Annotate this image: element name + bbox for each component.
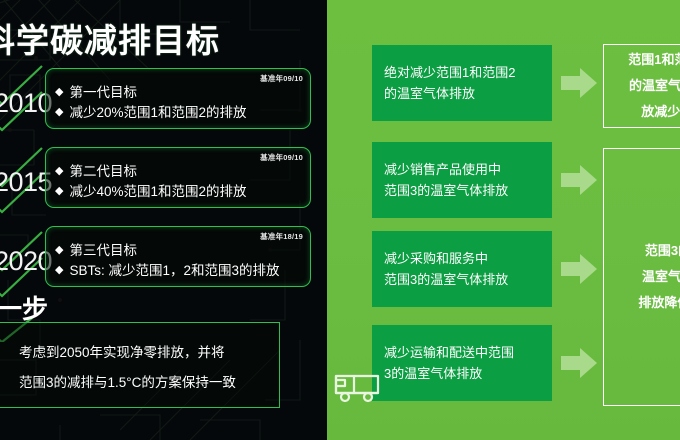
list-item: ◆ 减少40%范围1和范围2的排放: [55, 184, 304, 200]
diamond-bullet-icon: ◆: [55, 105, 63, 120]
truck-icon: [332, 366, 382, 406]
bullet-text: SBTs: 减少范围1，2和范围3的排放: [69, 263, 279, 279]
next-step-line-2: 范围3的减排与1.5°C的方案保持一致: [19, 371, 236, 391]
slide-canvas: 科学碳减排目标 2010 2015 2020 基准年09/10 ◆ 第一: [0, 0, 680, 440]
list-item: ◆ SBTs: 减少范围1，2和范围3的排放: [55, 263, 304, 279]
action-line: 减少采购和服务中: [384, 248, 508, 269]
outcome-box-1-text: 范围1和范围2 的温室气体排 放减少50: [628, 47, 680, 125]
timeline-card-2010[interactable]: 基准年09/10 ◆ 第一代目标 ◆ 减少20%范围1和范围2的排放: [45, 68, 311, 129]
timeline-card-bullets: ◆ 第一代目标 ◆ 减少20%范围1和范围2的排放: [55, 85, 304, 125]
outcome-box-2-text: 范围3的 温室气体 排放降低2: [638, 238, 680, 316]
action-line: 范围3的温室气体排放: [384, 180, 508, 201]
next-step-card[interactable]: 考虑到2050年实现净零排放，并将 范围3的减排与1.5°C的方案保持一致: [0, 322, 280, 408]
baseline-badge: 基准年09/10: [260, 152, 303, 163]
arrow-right-icon-3: [561, 253, 597, 285]
baseline-badge: 基准年18/19: [260, 231, 303, 242]
outcome-line: 排放降低2: [638, 290, 680, 316]
arrow-right-icon-1: [561, 67, 597, 99]
diamond-bullet-icon: ◆: [55, 184, 63, 199]
action-line: 绝对减少范围1和范围2: [384, 62, 515, 83]
diamond-bullet-icon: ◆: [55, 164, 63, 179]
diamond-bullet-icon: ◆: [55, 263, 63, 278]
action-line: 范围3的温室气体排放: [384, 269, 508, 290]
bullet-text: 减少20%范围1和范围2的排放: [69, 105, 246, 121]
timeline-card-2015[interactable]: 基准年09/10 ◆ 第二代目标 ◆ 减少40%范围1和范围2的排放: [45, 147, 311, 208]
action-line: 减少运输和配送中范围: [384, 342, 514, 363]
outcome-box-1[interactable]: 范围1和范围2 的温室气体排 放减少50: [603, 44, 680, 128]
diamond-bullet-icon: ◆: [55, 85, 63, 100]
outcome-line: 放减少50: [628, 99, 680, 125]
action-line: 3的温室气体排放: [384, 363, 514, 384]
timeline-card-bullets: ◆ 第二代目标 ◆ 减少40%范围1和范围2的排放: [55, 164, 304, 204]
timeline-card-bullets: ◆ 第三代目标 ◆ SBTs: 减少范围1，2和范围3的排放: [55, 243, 304, 283]
timeline-panel: 科学碳减排目标 2010 2015 2020 基准年09/10 ◆ 第一: [0, 0, 327, 440]
outcome-line: 温室气体: [638, 264, 680, 290]
baseline-badge: 基准年09/10: [260, 73, 303, 84]
next-step-heading: 下一步: [0, 289, 48, 326]
outcome-line: 的温室气体排: [628, 73, 680, 99]
action-line: 减少销售产品使用中: [384, 159, 508, 180]
list-item: ◆ 减少20%范围1和范围2的排放: [55, 105, 304, 121]
action-box-4-text: 减少运输和配送中范围 3的温室气体排放: [384, 342, 514, 384]
action-box-1-text: 绝对减少范围1和范围2 的温室气体排放: [384, 62, 515, 104]
bullet-text: 第三代目标: [69, 243, 137, 259]
diamond-bullet-icon: ◆: [55, 243, 63, 258]
action-box-2-text: 减少销售产品使用中 范围3的温室气体排放: [384, 159, 508, 201]
arrow-right-icon-2: [561, 164, 597, 196]
timeline-card-2020[interactable]: 基准年18/19 ◆ 第三代目标 ◆ SBTs: 减少范围1，2和范围3的排放: [45, 226, 311, 287]
action-box-2[interactable]: 减少销售产品使用中 范围3的温室气体排放: [372, 142, 552, 218]
outcome-line: 范围1和范围2: [628, 47, 680, 73]
action-box-3-text: 减少采购和服务中 范围3的温室气体排放: [384, 248, 508, 290]
action-box-3[interactable]: 减少采购和服务中 范围3的温室气体排放: [372, 231, 552, 307]
bullet-text: 第一代目标: [69, 85, 137, 101]
action-line: 的温室气体排放: [384, 83, 515, 104]
outcome-box-2[interactable]: 范围3的 温室气体 排放降低2: [603, 148, 680, 406]
next-step-line-1: 考虑到2050年实现净零排放，并将: [19, 341, 225, 361]
bullet-text: 减少40%范围1和范围2的排放: [69, 184, 246, 200]
list-item: ◆ 第二代目标: [55, 164, 304, 180]
bullet-text: 第二代目标: [69, 164, 137, 180]
list-item: ◆ 第一代目标: [55, 85, 304, 101]
actions-panel: 绝对减少范围1和范围2 的温室气体排放 减少销售产品使用中 范围3的温室气体排放…: [327, 0, 680, 440]
list-item: ◆ 第三代目标: [55, 243, 304, 259]
action-box-4[interactable]: 减少运输和配送中范围 3的温室气体排放: [372, 325, 552, 401]
arrow-right-icon-4: [561, 347, 597, 379]
action-box-1[interactable]: 绝对减少范围1和范围2 的温室气体排放: [372, 45, 552, 121]
outcome-line: 范围3的: [638, 238, 680, 264]
